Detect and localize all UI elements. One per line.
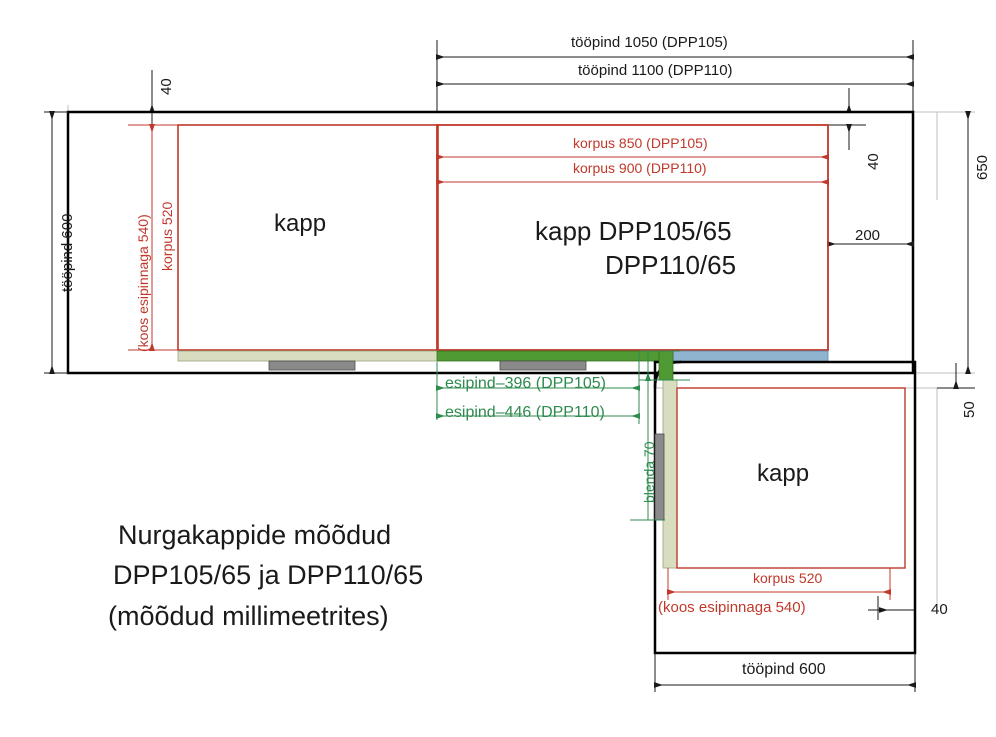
label-worktop-1050: tööpind 1050 (DPP105) bbox=[571, 35, 728, 50]
handle-main bbox=[500, 361, 586, 370]
front-panel-blenda-top bbox=[437, 351, 673, 361]
front-panel-left bbox=[178, 351, 438, 361]
dim-50-right bbox=[937, 363, 975, 388]
label-worktop-600-left: tööpind 600 bbox=[60, 214, 75, 292]
label-650: 650 bbox=[975, 155, 990, 180]
label-200: 200 bbox=[855, 228, 880, 243]
front-panel-blue bbox=[673, 351, 828, 362]
cabinet-left-outline bbox=[178, 125, 438, 350]
label-koos-540-left: (koos esipinnaga 540) bbox=[136, 214, 150, 352]
front-panel-lower bbox=[663, 380, 677, 568]
handle-left bbox=[269, 361, 355, 370]
label-worktop-600-bottom: tööpind 600 bbox=[742, 662, 826, 678]
label-korpus-850: korpus 850 (DPP105) bbox=[573, 136, 708, 150]
label-cabinet-main-line1: kapp DPP105/65 bbox=[535, 218, 732, 244]
label-korpus-520-lower: korpus 520 bbox=[753, 571, 822, 585]
label-worktop-1100: tööpind 1100 (DPP110) bbox=[578, 63, 733, 78]
label-cabinet-main-line2: DPP110/65 bbox=[605, 252, 736, 278]
worktop-outline-upper bbox=[68, 112, 913, 373]
label-cabinet-left: kapp bbox=[274, 212, 326, 236]
title-line-2: DPP105/65 ja DPP110/65 bbox=[113, 562, 423, 589]
title-line-3: (mõõdud millimeetrites) bbox=[108, 603, 389, 630]
label-korpus-520-left: korpus 520 bbox=[160, 202, 174, 271]
label-korpus-900: korpus 900 (DPP110) bbox=[573, 161, 707, 175]
label-koos-540-lower: (koos esipinnaga 540) bbox=[658, 600, 806, 615]
label-bottom-right-40: 40 bbox=[931, 602, 948, 617]
label-50: 50 bbox=[962, 401, 977, 418]
label-top-right-40: 40 bbox=[866, 153, 881, 170]
label-cabinet-lower: kapp bbox=[757, 462, 809, 486]
dim-top-right-40 bbox=[828, 88, 866, 150]
blenda-vertical-green bbox=[659, 351, 673, 380]
label-esipind-396: esipind–396 (DPP105) bbox=[445, 376, 606, 392]
dim-40-bottom-right bbox=[868, 596, 915, 620]
technical-drawing-canvas: tööpind 1050 (DPP105) tööpind 1100 (DPP1… bbox=[0, 0, 996, 737]
label-top-left-40: 40 bbox=[159, 78, 174, 95]
label-esipind-446: esipind–446 (DPP110) bbox=[445, 405, 605, 421]
title-line-1: Nurgakappide mõõdud bbox=[118, 522, 391, 549]
label-blenda-70: blenda 70 bbox=[642, 441, 656, 503]
